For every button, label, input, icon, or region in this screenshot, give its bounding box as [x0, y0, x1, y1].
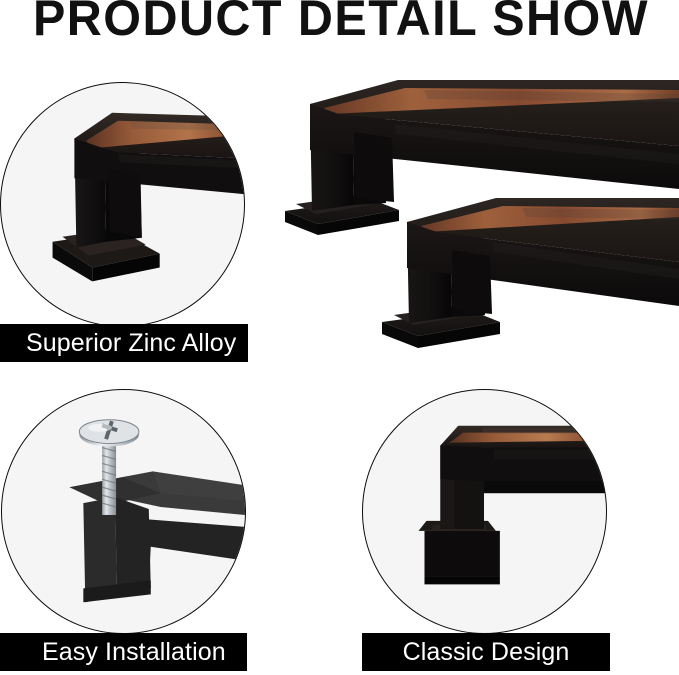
classic-design-pull-illustration: [363, 390, 606, 633]
caption-bar-classic-design: Classic Design: [362, 633, 610, 671]
hero-product-photo: [274, 72, 679, 372]
caption-label-classic-design: Classic Design: [403, 640, 570, 665]
feature-panel-classic-design: [362, 389, 607, 634]
install-pull-body: [69, 471, 245, 602]
caption-label-superior-zinc-alloy: Superior Zinc Alloy: [26, 331, 236, 356]
caption-label-easy-installation: Easy Installation: [42, 640, 226, 665]
closeup-pull-end-illustration: [1, 83, 244, 326]
classic-base-foot: [419, 521, 500, 584]
feature-panel-easy-installation: [1, 389, 246, 634]
caption-bar-superior-zinc-alloy: Superior Zinc Alloy: [0, 324, 248, 362]
feature-panel-superior-zinc-alloy: [0, 82, 245, 327]
two-pulls-illustration: [274, 72, 679, 372]
caption-bar-easy-installation: Easy Installation: [0, 633, 247, 671]
screw-installation-illustration: [2, 390, 245, 633]
page-title: PRODUCT DETAIL SHOW: [33, 0, 649, 43]
install-screw: [79, 420, 139, 515]
